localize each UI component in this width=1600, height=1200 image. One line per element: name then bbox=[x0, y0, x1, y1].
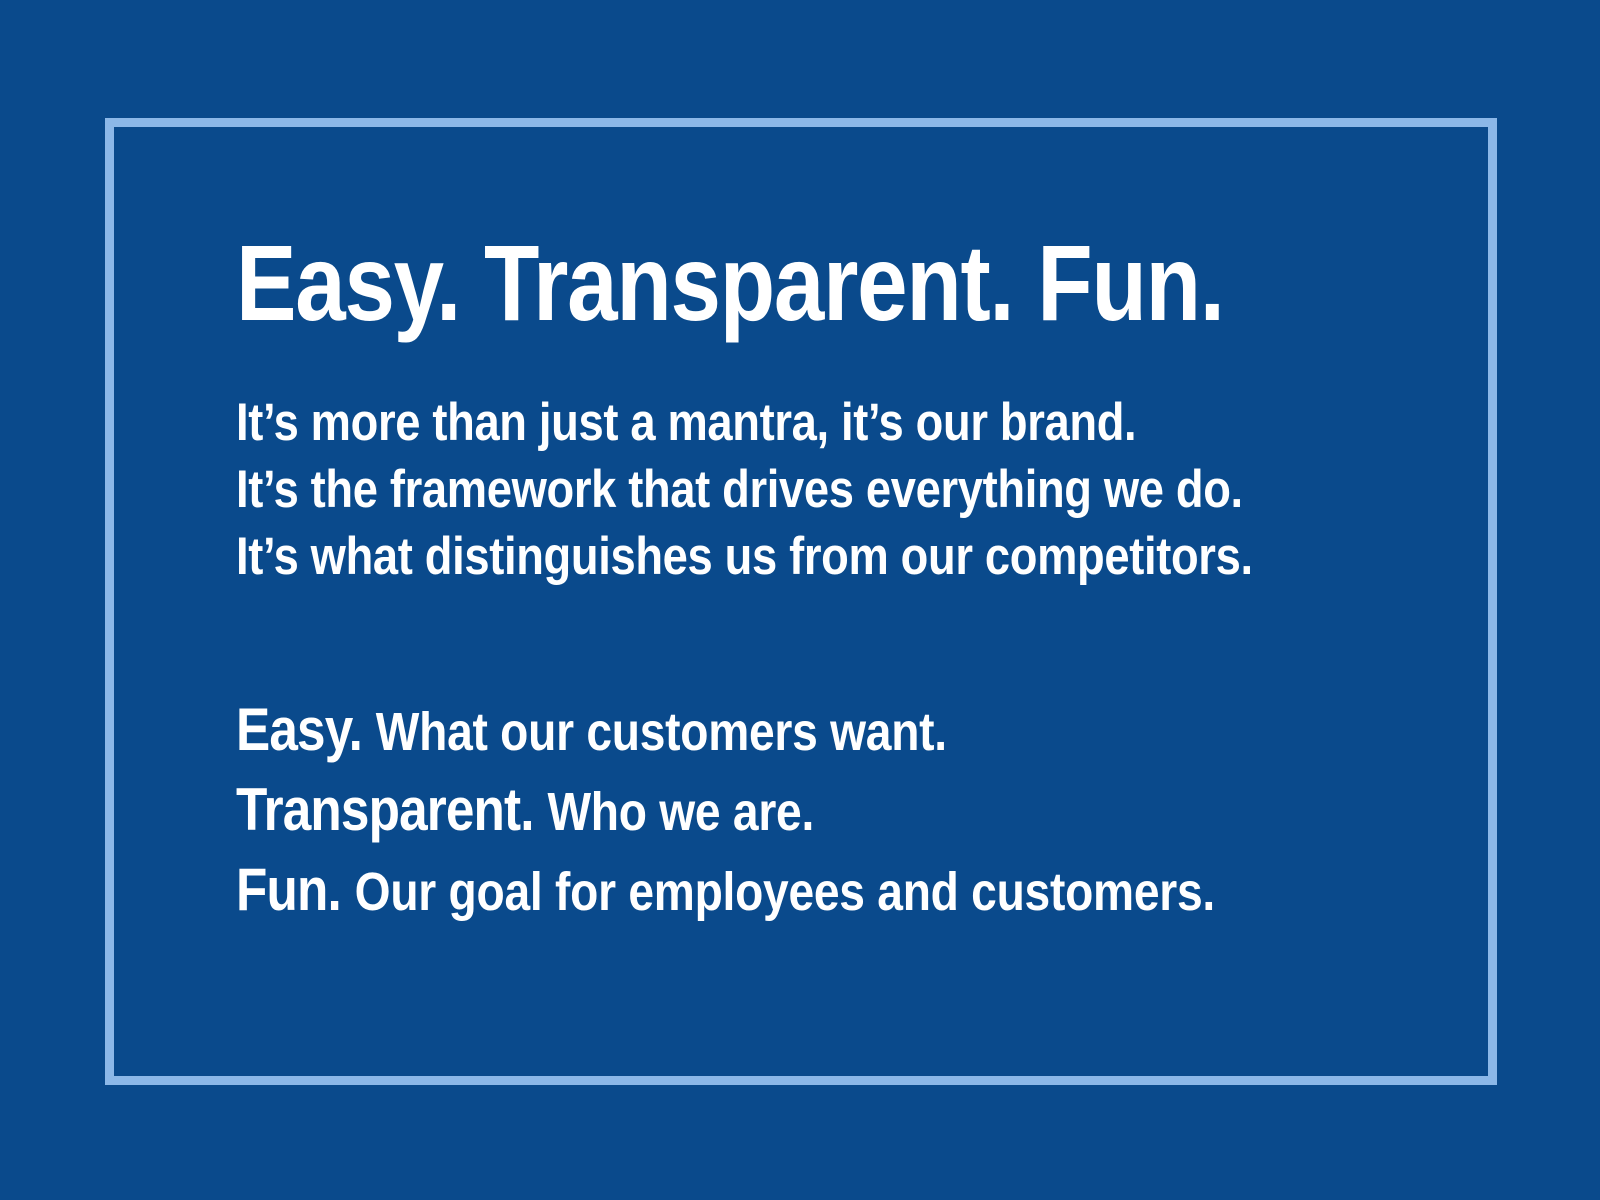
definition-list: Easy. What our customers want. Transpare… bbox=[236, 690, 1416, 929]
list-item: Transparent. Who we are. bbox=[236, 770, 1245, 850]
intro-line: It’s the framework that drives everythin… bbox=[236, 457, 1245, 524]
definition-term: Easy. bbox=[236, 696, 362, 763]
slide-content: Easy. Transparent. Fun. It’s more than j… bbox=[236, 228, 1416, 930]
section-spacer bbox=[236, 590, 1416, 690]
intro-line: It’s more than just a mantra, it’s our b… bbox=[236, 390, 1245, 457]
definition-description: Our goal for employees and customers. bbox=[355, 862, 1215, 922]
definition-description: What our customers want. bbox=[376, 702, 947, 762]
list-item: Easy. What our customers want. bbox=[236, 690, 1245, 770]
list-item: Fun. Our goal for employees and customer… bbox=[236, 850, 1245, 930]
intro-line: It’s what distinguishes us from our comp… bbox=[236, 524, 1245, 591]
definition-term: Fun. bbox=[236, 856, 341, 923]
intro-paragraph: It’s more than just a mantra, it’s our b… bbox=[236, 390, 1416, 590]
slide-canvas: Easy. Transparent. Fun. It’s more than j… bbox=[0, 0, 1600, 1200]
page-title: Easy. Transparent. Fun. bbox=[236, 228, 1227, 338]
definition-term: Transparent. bbox=[236, 776, 534, 843]
definition-description: Who we are. bbox=[547, 782, 814, 842]
